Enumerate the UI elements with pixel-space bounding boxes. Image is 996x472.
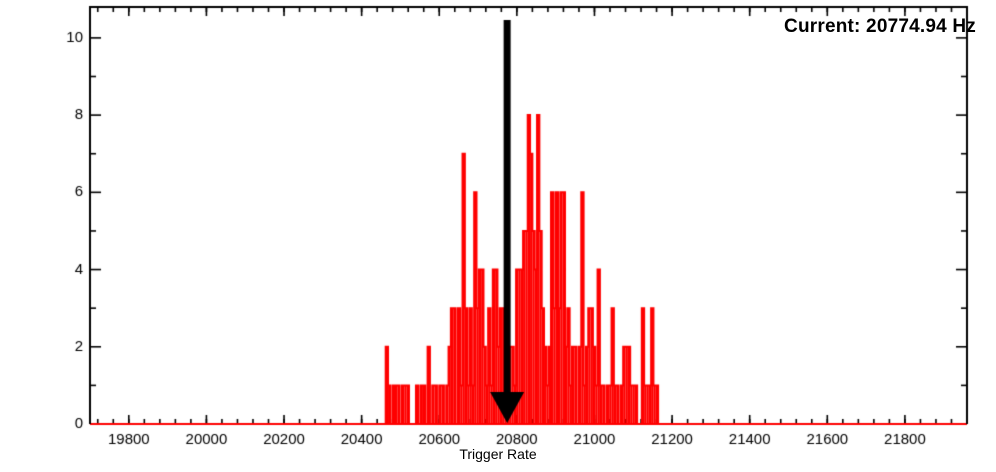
plot-container: Current: 20774.94 Hz Trigger Rate — [0, 0, 996, 472]
x-axis-title: Trigger Rate — [0, 446, 996, 462]
trigger-rate-histogram-canvas — [0, 0, 996, 472]
current-rate-label: Current: 20774.94 Hz — [784, 16, 976, 38]
